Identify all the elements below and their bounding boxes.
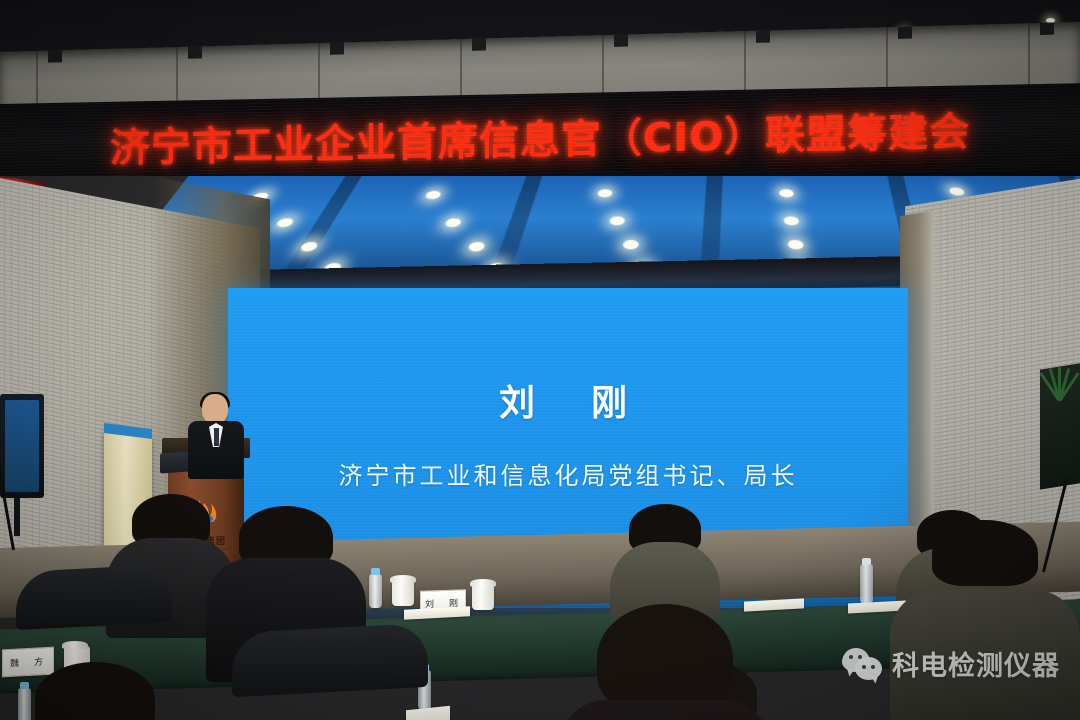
downlight xyxy=(275,218,295,227)
speaker-person xyxy=(186,394,246,478)
attendee xyxy=(610,504,720,620)
downlight xyxy=(787,240,804,249)
water-bottle xyxy=(369,574,382,608)
potted-plant xyxy=(1040,331,1080,401)
screen-speaker-name: 刘 刚 xyxy=(228,374,908,426)
downlight xyxy=(783,217,800,226)
conference-photo: 济宁市工业企业首席信息官（CIO）联盟筹建会 xyxy=(0,0,1080,720)
downlight xyxy=(948,188,966,196)
attendee-front xyxy=(560,604,770,720)
downlight xyxy=(779,189,795,197)
hall-interior: 刘 刚 济宁市工业和信息化局党组书记、局长 荣盛集团 RON xyxy=(0,176,1080,720)
chair-back xyxy=(232,623,428,697)
downlight xyxy=(597,189,612,197)
attendee-front xyxy=(890,520,1080,720)
water-bottle xyxy=(860,564,873,604)
led-banner-text: 济宁市工业企业首席信息官（CIO）联盟筹建会 xyxy=(0,97,1080,176)
document-paper xyxy=(406,706,450,720)
teacup xyxy=(472,584,494,610)
downlight xyxy=(444,218,462,227)
downlight xyxy=(467,242,485,251)
screen-speaker-title: 济宁市工业和信息化局党组书记、局长 xyxy=(228,456,908,491)
chair-back xyxy=(16,564,172,630)
teacup xyxy=(392,580,414,606)
downlight xyxy=(424,191,441,199)
downlight xyxy=(623,240,639,249)
attendee-front xyxy=(0,662,210,720)
downlight xyxy=(609,217,625,226)
stage-monitor xyxy=(0,394,44,498)
monitor-stand xyxy=(14,498,20,536)
